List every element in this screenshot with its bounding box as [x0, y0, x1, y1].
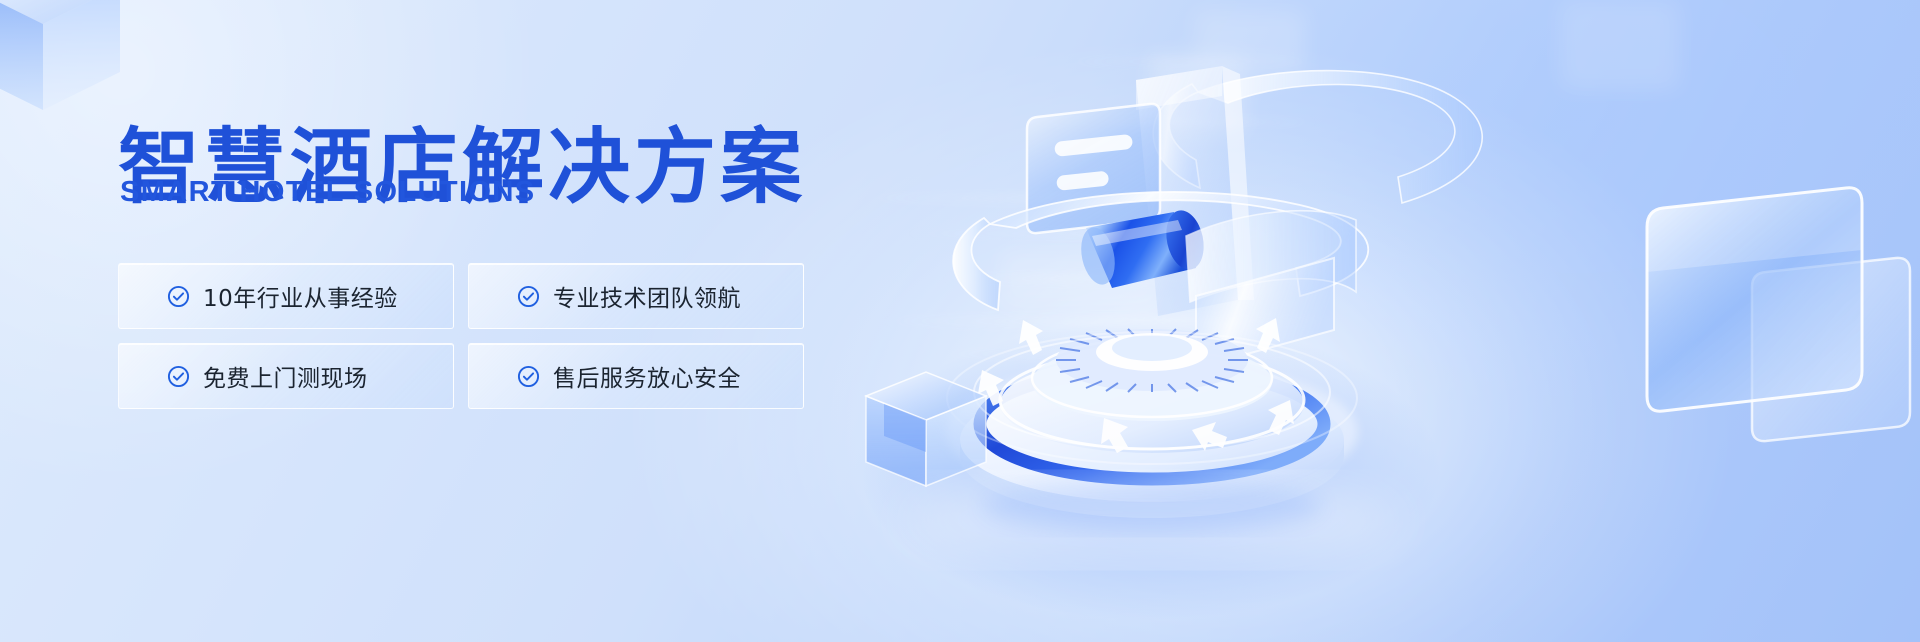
check-circle-icon — [167, 285, 190, 308]
arrow-left-mid — [978, 370, 1004, 406]
light-streaks — [860, 60, 1340, 356]
blue-glass-cylinder — [1076, 207, 1209, 288]
floor-reflection-blue — [982, 480, 1322, 532]
feature-label: 10年行业从事经验 — [203, 279, 398, 313]
turbine-fins — [1056, 329, 1248, 392]
feature-label: 售后服务放心安全 — [553, 359, 741, 393]
arrow-bottom-right — [1192, 422, 1227, 451]
blue-accent-ring — [980, 369, 1324, 479]
banner-content: 智慧酒店解决方案 SMART HOTEL SOLUTIONS 10年行业从事经验 — [0, 0, 900, 642]
card-line-1 — [1054, 134, 1133, 157]
check-circle-icon — [517, 285, 540, 308]
concentric-arrow-rings — [978, 318, 1294, 453]
feature-item-free-survey[interactable]: 免费上门测现场 — [118, 343, 454, 409]
check-circle-icon — [517, 365, 540, 388]
curved-glass-ribbon-top — [1153, 71, 1482, 203]
feature-label: 专业技术团队领航 — [553, 279, 741, 313]
smart-hotel-banner: 智慧酒店解决方案 SMART HOTEL SOLUTIONS 10年行业从事经验 — [0, 0, 1920, 642]
arrow-right-upper — [1256, 318, 1280, 353]
circular-platform — [946, 329, 1358, 518]
floor-reflection — [902, 478, 1402, 562]
feature-label: 免费上门测现场 — [203, 359, 368, 393]
page-subtitle: SMART HOTEL SOLUTIONS — [120, 176, 536, 209]
feature-item-after-sales[interactable]: 售后服务放心安全 — [468, 343, 804, 409]
tall-glass-card — [1136, 66, 1254, 316]
background-blocks — [1000, 0, 1680, 310]
arrow-bottom-left — [1101, 418, 1128, 453]
feature-item-experience[interactable]: 10年行业从事经验 — [118, 263, 454, 329]
card-line-2 — [1056, 171, 1109, 191]
glass-panel-right-back — [1752, 258, 1910, 441]
curved-glass-ribbon-low — [1186, 211, 1356, 368]
blue-glow — [860, 320, 1440, 620]
check-circle-icon — [167, 365, 190, 388]
arrow-left-upper — [1019, 320, 1043, 355]
feature-item-team[interactable]: 专业技术团队领航 — [468, 263, 804, 329]
feature-list: 10年行业从事经验 专业技术团队领航 免费上 — [118, 263, 804, 409]
glass-card-panel — [1027, 104, 1160, 233]
curved-glass-ribbon-mid — [953, 192, 1368, 310]
glass-panel-right-front — [1647, 188, 1862, 411]
turbine-fin-ring — [1056, 329, 1248, 391]
arrow-right-lower — [1268, 400, 1294, 435]
